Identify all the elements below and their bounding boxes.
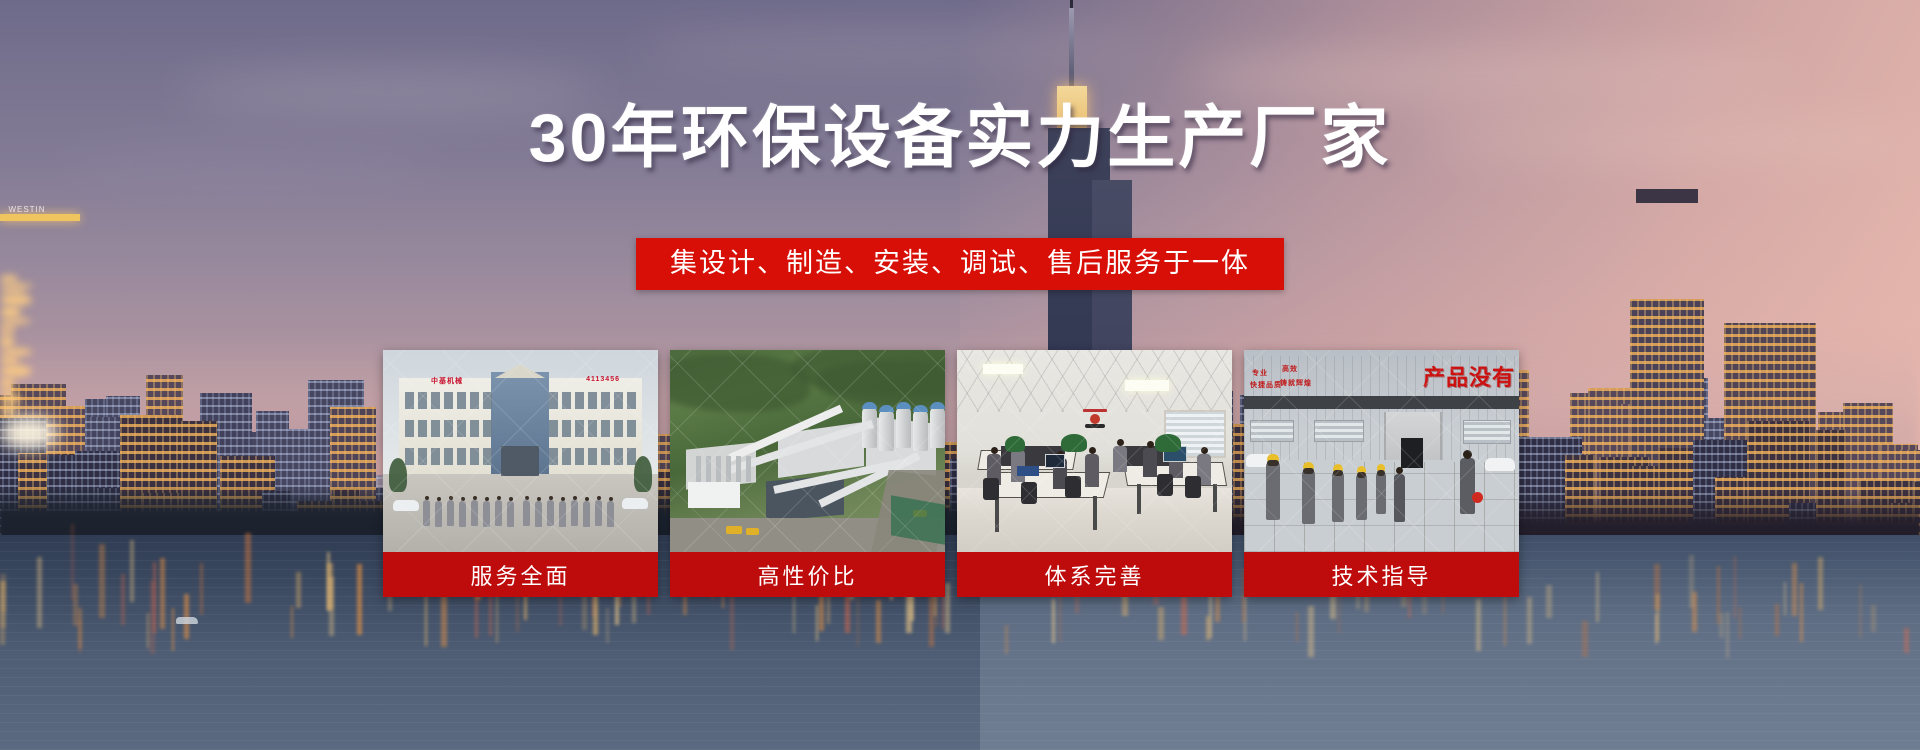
scenery-element — [0, 348, 32, 356]
scenery-element — [1333, 470, 1343, 476]
scenery-element — [549, 496, 553, 500]
scenery-element — [1185, 476, 1201, 498]
scenery-element — [627, 392, 636, 409]
feature-card-row: 中基机械 4113456 服务全面 高性价比 — [383, 350, 1539, 597]
page-title: 30年环保设备实力生产厂家 — [0, 104, 1920, 172]
scenery-element — [627, 448, 636, 465]
scenery-element — [1463, 450, 1472, 459]
scenery-element — [509, 497, 513, 501]
card1-building-sign: 中基机械 — [431, 376, 463, 386]
scenery-element — [595, 500, 602, 526]
scenery-element — [449, 496, 453, 500]
scenery-element — [983, 478, 999, 500]
scenery-element — [507, 501, 514, 527]
scenery-element — [913, 405, 928, 412]
card-photo-office-building: 中基机械 4113456 — [383, 350, 658, 552]
cloud — [1180, 48, 1800, 104]
scenery-element — [716, 456, 721, 482]
feature-card-3[interactable]: 体系完善 — [957, 350, 1232, 597]
card1-phone-sign: 4113456 — [586, 376, 620, 383]
scenery-element — [1005, 436, 1025, 452]
scenery-element — [1303, 468, 1314, 474]
scenery-element — [483, 420, 492, 437]
scenery-element — [1460, 458, 1475, 514]
card4-slogan-2: 高效 — [1282, 364, 1298, 374]
scenery-element — [601, 420, 610, 437]
scenery-element — [501, 446, 539, 476]
scenery-element — [483, 392, 492, 409]
scenery-element — [425, 496, 429, 500]
scenery-element — [1356, 474, 1367, 520]
scenery-element — [525, 496, 529, 500]
westin-sign: WESTIN — [0, 205, 54, 214]
wall-logo-icon — [1077, 406, 1113, 432]
card4-slogan-3: 快捷品质 — [1250, 380, 1282, 390]
scenery-element — [0, 416, 58, 450]
scenery-element — [1213, 484, 1217, 512]
scenery-element — [1377, 470, 1385, 476]
scenery-element — [930, 406, 945, 448]
scenery-element — [575, 448, 584, 465]
hero-banner: WESTIN 30年环保设备实力生产厂家 集设计、制造、安装、调试、售后服务于一… — [0, 0, 1920, 750]
cloud — [640, 28, 1160, 66]
scenery-element — [561, 497, 565, 501]
scenery-element — [614, 420, 623, 437]
scenery-element — [461, 497, 465, 501]
scenery-element — [746, 456, 751, 482]
scenery-element — [0, 306, 21, 318]
scenery-element — [1201, 447, 1208, 454]
scenery-element — [1089, 447, 1096, 454]
card-caption-3: 体系完善 — [957, 552, 1232, 597]
scenery-element — [444, 392, 453, 409]
scenery-element — [549, 392, 558, 409]
scenery-element — [497, 496, 501, 500]
scenery-element — [1266, 462, 1280, 520]
scenery-element — [1045, 454, 1065, 468]
scenery-element — [1155, 434, 1181, 452]
scenery-element — [437, 497, 441, 501]
scenery-element — [575, 392, 584, 409]
scenery-element — [614, 448, 623, 465]
scenery-element — [1394, 474, 1405, 522]
scenery-element — [405, 392, 414, 409]
feature-card-2[interactable]: 高性价比 — [670, 350, 945, 597]
scenery-element — [1085, 454, 1099, 487]
card-caption-4: 技术指导 — [1244, 552, 1519, 597]
scenery-element — [483, 501, 490, 527]
scenery-element — [1143, 448, 1157, 477]
scenery-element — [418, 420, 427, 437]
scenery-element — [597, 496, 601, 500]
scenery-element — [1017, 466, 1039, 476]
scenery-element — [470, 420, 479, 437]
scenery-element — [896, 402, 911, 409]
scenery-element — [418, 448, 427, 465]
scenery-element — [405, 420, 414, 437]
scenery-element — [0, 365, 32, 377]
scenery-element — [688, 482, 740, 508]
scenery-element — [559, 501, 566, 527]
scenery-element — [0, 393, 21, 405]
scenery-element — [1065, 476, 1081, 498]
scenery-element — [614, 392, 623, 409]
scenery-element — [726, 526, 742, 534]
scenery-element — [746, 528, 759, 535]
scenery-element — [1357, 472, 1366, 478]
scenery-element — [991, 447, 998, 454]
scenery-element — [607, 501, 614, 527]
card-caption-1: 服务全面 — [383, 552, 658, 597]
scenery-element — [571, 500, 578, 526]
scenery-element — [601, 448, 610, 465]
scenery-element — [435, 501, 442, 527]
scenery-element — [0, 405, 17, 416]
scenery-element — [1396, 467, 1403, 474]
scenery-element — [879, 409, 894, 451]
scenery-element — [1472, 492, 1483, 503]
scenery-element — [930, 402, 945, 409]
scenery-element — [562, 392, 571, 409]
scenery-element — [588, 392, 597, 409]
scenery-element — [1376, 472, 1386, 514]
scenery-element — [495, 500, 502, 526]
scenery-element — [473, 496, 477, 500]
scenery-element — [1117, 439, 1124, 446]
scenery-element — [913, 409, 928, 451]
scenery-element — [0, 356, 19, 365]
scenery-element — [588, 448, 597, 465]
scenery-element — [549, 448, 558, 465]
scenery-element — [470, 392, 479, 409]
scenery-element — [431, 392, 440, 409]
scenery-element — [562, 448, 571, 465]
scenery-element — [588, 420, 597, 437]
scenery-element — [457, 392, 466, 409]
card4-slogan-4: 铸就辉煌 — [1280, 378, 1312, 388]
subtitle-banner: 集设计、制造、安装、调试、售后服务于一体 — [636, 238, 1284, 290]
scenery-element — [0, 294, 32, 306]
feature-card-4[interactable]: 产品没有 专业 高效 快捷品质 铸就辉煌 技术指导 — [1244, 350, 1519, 597]
scenery-element — [1137, 484, 1141, 514]
scenery-element — [1021, 482, 1037, 504]
scenery-element — [444, 448, 453, 465]
card4-wall-sign: 产品没有 — [1423, 360, 1515, 392]
scenery-element — [726, 456, 731, 482]
card-photo-plant-aerial — [670, 350, 945, 552]
scenery-element — [459, 501, 466, 527]
scenery-element — [995, 496, 999, 532]
scenery-element — [0, 275, 18, 283]
card-caption-2: 高性价比 — [670, 552, 945, 597]
scenery-element — [537, 497, 541, 501]
card4-slogan-1: 专业 — [1252, 368, 1268, 378]
scenery-element — [0, 214, 80, 221]
scenery-element — [1147, 441, 1154, 448]
scenery-element — [1302, 470, 1315, 524]
scenery-element — [585, 497, 589, 501]
scenery-element — [523, 500, 530, 526]
scenery-element — [431, 420, 440, 437]
scenery-element — [696, 456, 701, 482]
scenery-element — [471, 500, 478, 526]
scenery-element — [547, 500, 554, 526]
scenery-element — [0, 377, 15, 387]
scenery-element — [457, 448, 466, 465]
scenery-element — [549, 420, 558, 437]
scenery-element — [1332, 472, 1344, 522]
scenery-element — [1093, 496, 1097, 530]
scenery-element — [634, 456, 652, 492]
scenery-element — [535, 501, 542, 527]
scenery-element — [562, 420, 571, 437]
scenery-element — [483, 448, 492, 465]
scenery-element — [1267, 460, 1279, 466]
scenery-element — [1636, 189, 1698, 203]
scenery-element — [879, 405, 894, 412]
scenery-element — [601, 392, 610, 409]
feature-card-1[interactable]: 中基机械 4113456 服务全面 — [383, 350, 658, 597]
scenery-element — [431, 448, 440, 465]
scenery-element — [485, 497, 489, 501]
scenery-element — [575, 420, 584, 437]
scenery-element — [627, 420, 636, 437]
card-photo-office-interior — [957, 350, 1232, 552]
scenery-element — [447, 500, 454, 526]
scenery-element — [470, 448, 479, 465]
scenery-element — [1061, 434, 1087, 452]
scenery-element — [405, 448, 414, 465]
scenery-element — [573, 496, 577, 500]
scenery-element — [444, 420, 453, 437]
scenery-element — [1157, 474, 1173, 496]
scenery-element — [862, 402, 877, 409]
scenery-element — [0, 336, 14, 348]
scenery-element — [896, 406, 911, 448]
scenery-element — [0, 318, 31, 324]
scenery-element — [583, 501, 590, 527]
scenery-element — [609, 497, 613, 501]
scenery-element — [457, 420, 466, 437]
scenery-element — [706, 456, 711, 482]
card-photo-factory-workers: 产品没有 专业 高效 快捷品质 铸就辉煌 — [1244, 350, 1519, 552]
scenery-element — [736, 456, 741, 482]
scenery-element — [389, 458, 407, 492]
scenery-element — [418, 392, 427, 409]
scenery-element — [423, 500, 430, 526]
scenery-element — [1113, 446, 1127, 472]
